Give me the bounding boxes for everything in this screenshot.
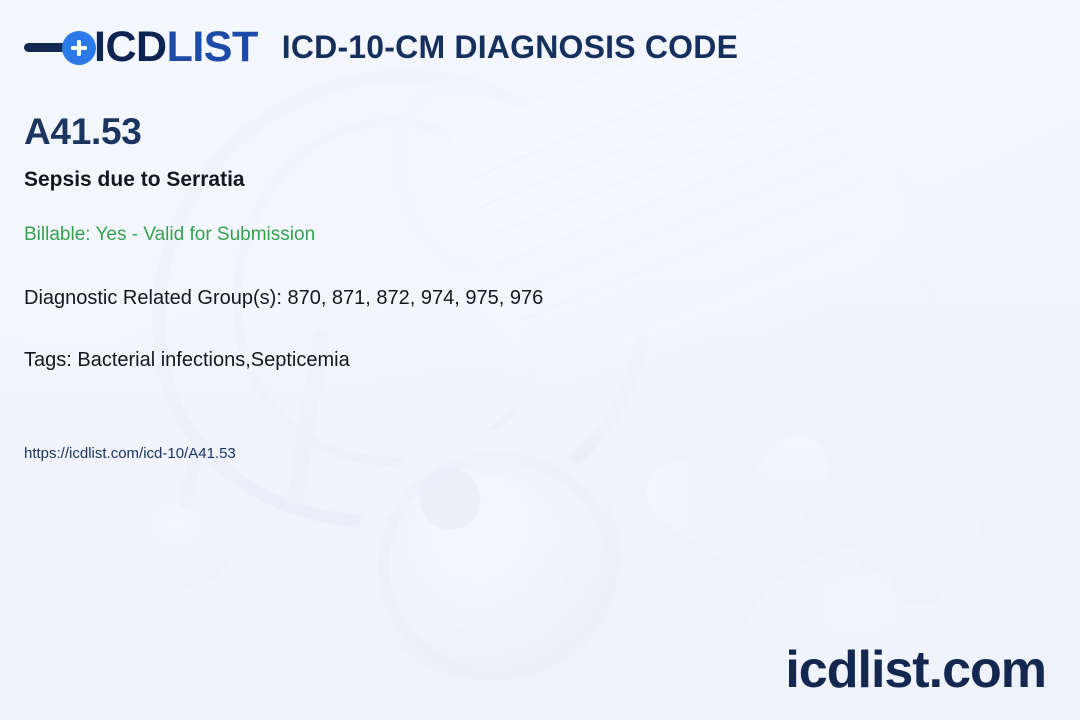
drg-list: Diagnostic Related Group(s): 870, 871, 8… [24,286,543,310]
icd-code: A41.53 [24,113,142,150]
billable-status: Billable: Yes - Valid for Submission [24,224,315,247]
logo-word-icd: ICD [94,23,167,71]
icdlist-logo[interactable]: ICDLIST [24,26,258,69]
icd-code-card: ICDLIST ICD-10-CM DIAGNOSIS CODE A41.53 … [0,0,1080,720]
plus-badge-icon [62,31,96,65]
logo-word-list: LIST [167,23,258,71]
icd-code-description: Sepsis due to Serratia [24,167,245,192]
source-url[interactable]: https://icdlist.com/icd-10/A41.53 [24,445,236,463]
page-header: ICDLIST ICD-10-CM DIAGNOSIS CODE [24,26,738,69]
brand-watermark: icdlist.com [785,644,1046,696]
card-content: ICDLIST ICD-10-CM DIAGNOSIS CODE A41.53 … [0,0,1080,720]
page-title: ICD-10-CM DIAGNOSIS CODE [282,29,738,66]
logo-wordmark: ICDLIST [94,26,258,69]
tag-list: Tags: Bacterial infections,Septicemia [24,348,350,372]
